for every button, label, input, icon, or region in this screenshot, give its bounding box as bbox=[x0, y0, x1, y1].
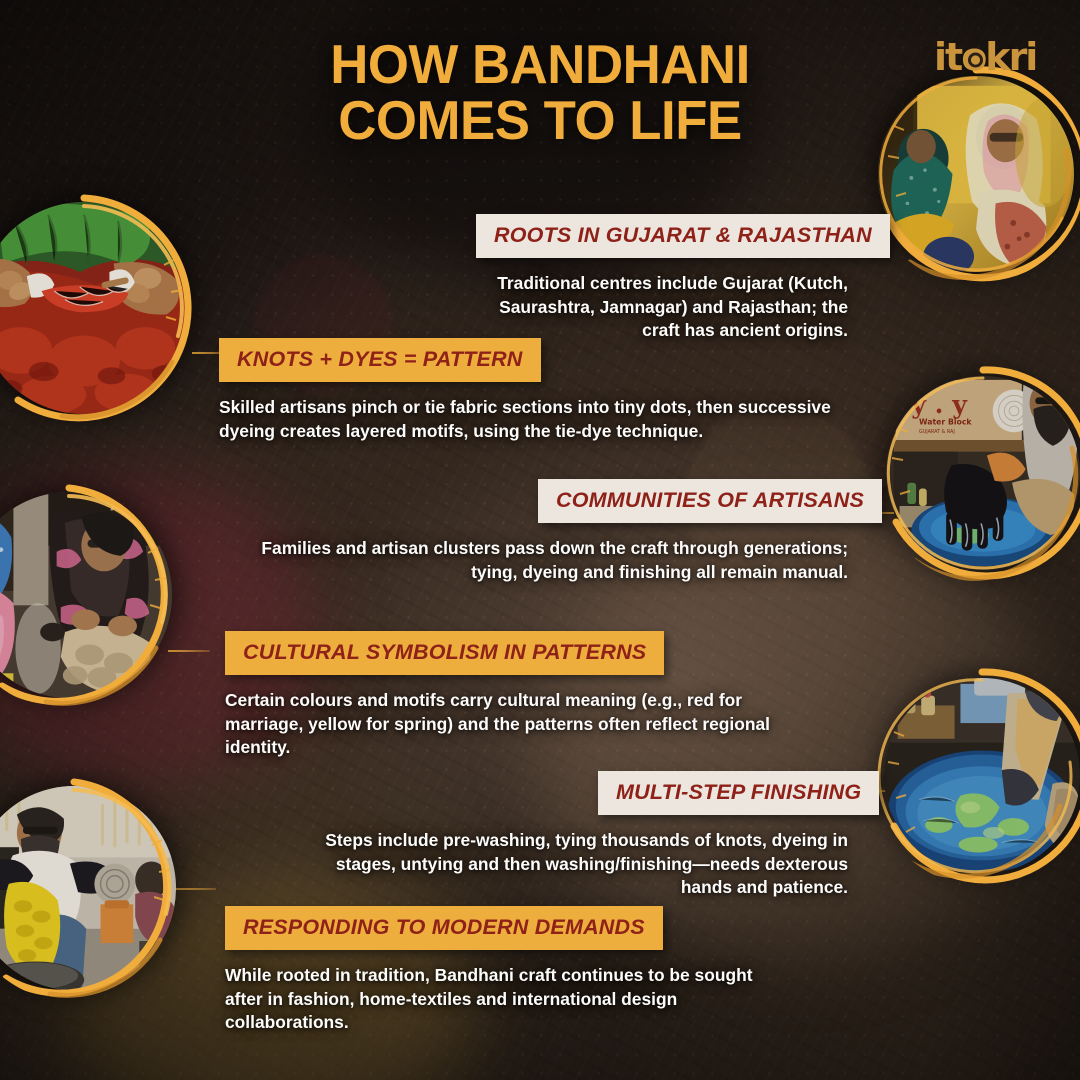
svg-text:itokri: itokri bbox=[934, 35, 1036, 78]
section-6: RESPONDING TO MODERN DEMANDS While roote… bbox=[225, 906, 795, 1035]
section-5: MULTI-STEP FINISHING Steps include pre-w… bbox=[598, 771, 848, 900]
section-1: ROOTS IN GUJARAT & RAJASTHAN Traditional… bbox=[476, 214, 848, 343]
section-3-body: Families and artisan clusters pass down … bbox=[228, 537, 848, 584]
itokri-logo[interactable]: itokri bbox=[932, 34, 1044, 78]
section-5-body: Steps include pre-washing, tying thousan… bbox=[318, 829, 848, 900]
photo-dyer-yellow-fabric[interactable] bbox=[0, 786, 176, 990]
title-line-2: COMES TO LIFE bbox=[22, 94, 1059, 148]
section-6-body: While rooted in tradition, Bandhani craf… bbox=[225, 964, 795, 1035]
section-6-badge[interactable]: RESPONDING TO MODERN DEMANDS bbox=[225, 906, 663, 950]
photo-frame-2 bbox=[0, 202, 190, 414]
section-4-body: Certain colours and motifs carry cultura… bbox=[225, 689, 825, 760]
section-2-body: Skilled artisans pinch or tie fabric sec… bbox=[219, 396, 847, 443]
connector-4 bbox=[168, 650, 210, 652]
photo-dyer-blue-tub[interactable]: y . y Water Block GUJARAT & RAJ bbox=[886, 376, 1080, 570]
page-title: HOW BANDHANI COMES TO LIFE bbox=[22, 38, 1059, 148]
photo-frame-3: y . y Water Block GUJARAT & RAJ bbox=[886, 376, 1080, 570]
photo-frame-4: ACD bbox=[0, 492, 172, 698]
section-2-badge[interactable]: KNOTS + DYES = PATTERN bbox=[219, 338, 541, 382]
section-3: COMMUNITIES OF ARTISANS Families and art… bbox=[538, 479, 848, 584]
logo-icon: itokri bbox=[932, 34, 1044, 78]
photo-frame-5 bbox=[884, 678, 1080, 874]
section-2: KNOTS + DYES = PATTERN Skilled artisans … bbox=[219, 338, 847, 443]
section-3-badge[interactable]: COMMUNITIES OF ARTISANS bbox=[538, 479, 882, 523]
title-line-1: HOW BANDHANI bbox=[330, 33, 750, 95]
section-4-badge[interactable]: CULTURAL SYMBOLISM IN PATTERNS bbox=[225, 631, 664, 675]
section-4: CULTURAL SYMBOLISM IN PATTERNS Certain c… bbox=[225, 631, 825, 760]
section-1-badge[interactable]: ROOTS IN GUJARAT & RAJASTHAN bbox=[476, 214, 890, 258]
photo-4-image: ACD bbox=[0, 492, 172, 698]
connector-6 bbox=[172, 888, 216, 890]
section-1-body: Traditional centres include Gujarat (Kut… bbox=[476, 272, 848, 343]
photo-2-image bbox=[0, 202, 190, 414]
photo-frame-6 bbox=[0, 786, 176, 990]
photo-6-image bbox=[0, 786, 176, 990]
section-5-badge[interactable]: MULTI-STEP FINISHING bbox=[598, 771, 879, 815]
photo-hands-tying-red-fabric[interactable] bbox=[0, 202, 190, 414]
photo-3-image: y . y Water Block GUJARAT & RAJ bbox=[886, 376, 1080, 570]
photo-indigo-dye-vat[interactable] bbox=[884, 678, 1080, 874]
photo-5-image bbox=[884, 678, 1080, 874]
photo-women-seated-tying[interactable]: ACD bbox=[0, 492, 172, 698]
